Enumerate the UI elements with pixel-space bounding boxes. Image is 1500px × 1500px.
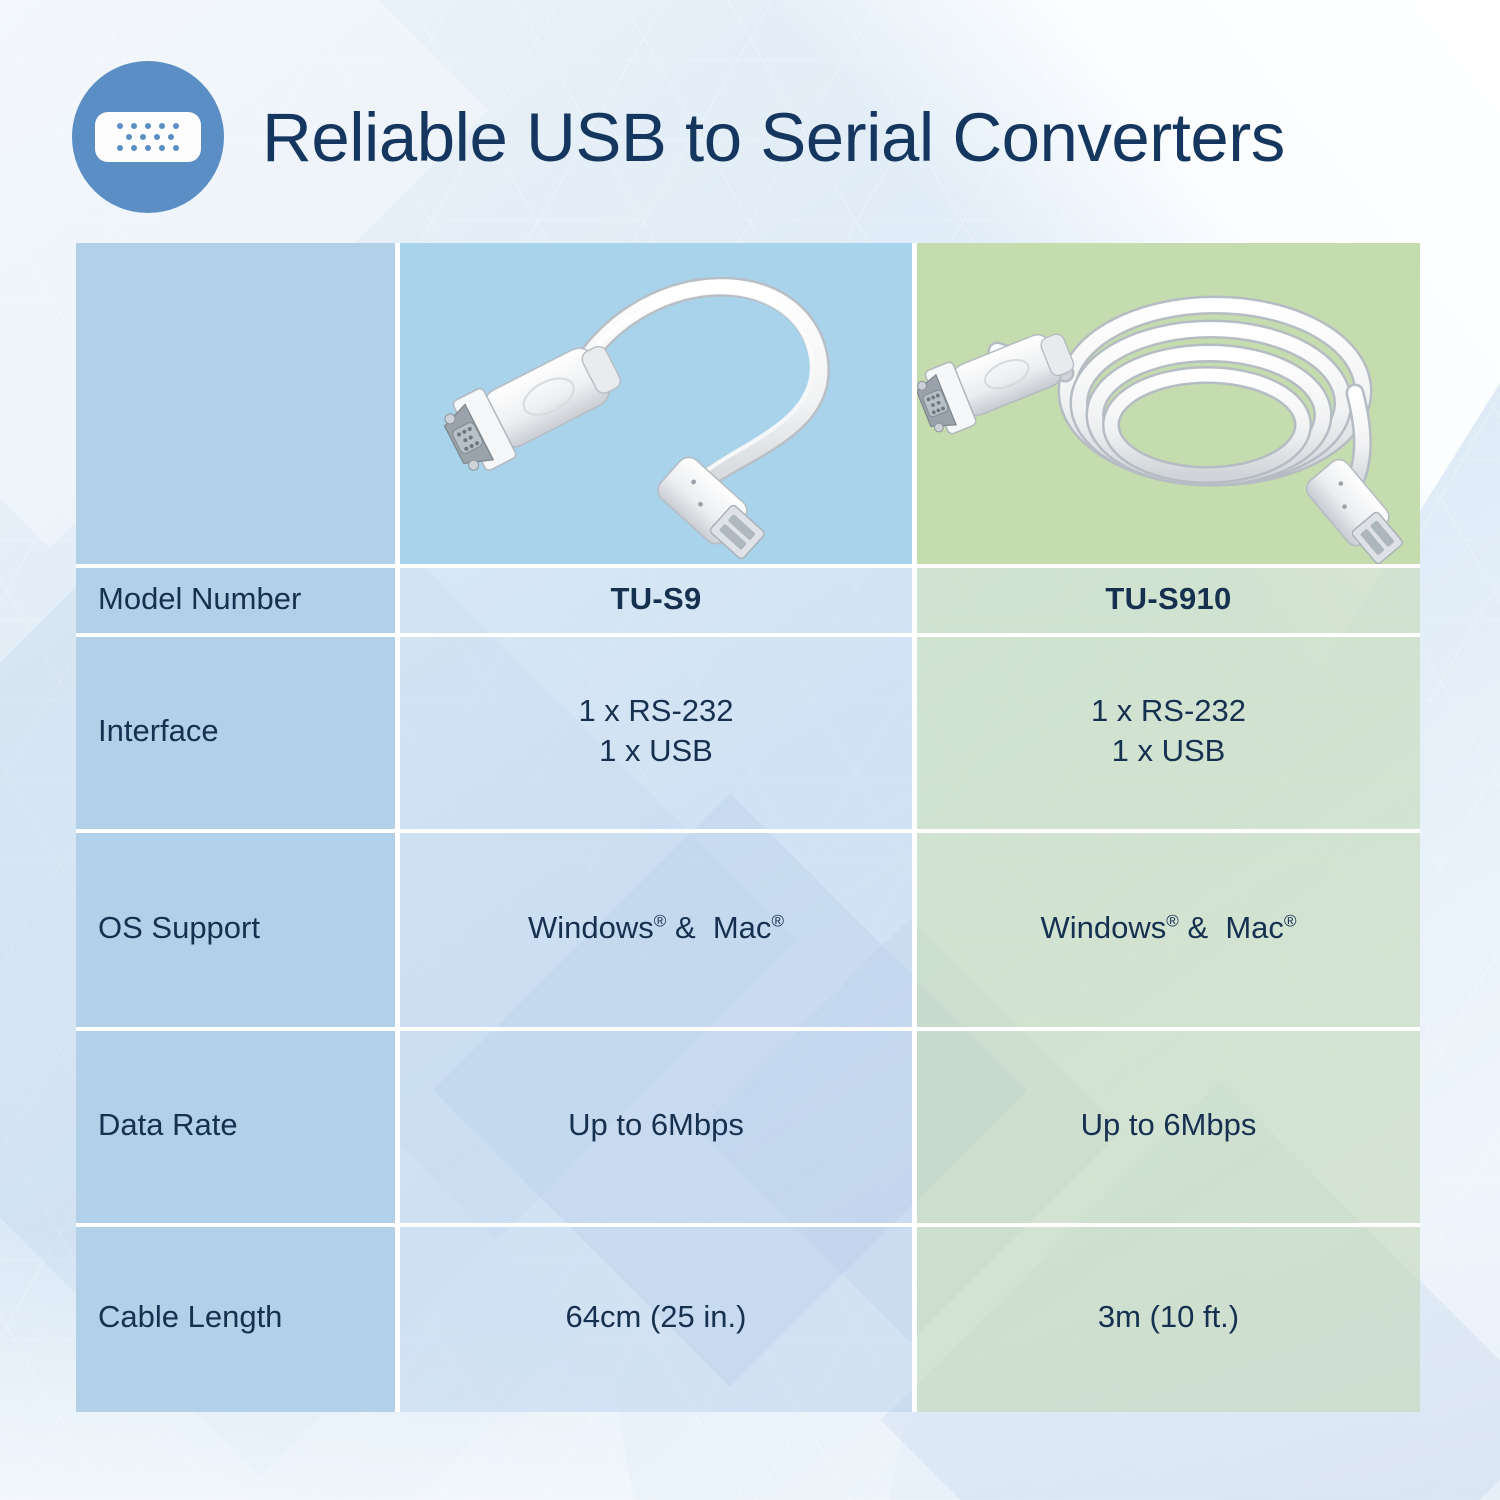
registered-mark: ®	[654, 912, 667, 931]
db9-pin-row	[117, 145, 179, 151]
cell-os-support-tus9: Windows® & Mac®	[400, 829, 912, 1027]
row-label-cable-length: Cable Length	[76, 1223, 395, 1412]
cell-interface-tus9: 1 x RS-2321 x USB	[400, 633, 912, 829]
row-label-os-support: OS Support	[76, 829, 395, 1027]
ampersand: &	[1187, 910, 1208, 945]
cell-data-rate-tus910: Up to 6Mbps	[917, 1027, 1420, 1223]
db9-pin-row	[117, 123, 179, 129]
interface-line-2: 1 x USB	[1112, 733, 1226, 768]
product-image-tus9	[398, 243, 915, 566]
cell-cable-length-tus9: 64cm (25 in.)	[400, 1223, 912, 1412]
registered-mark: ®	[1166, 912, 1179, 931]
registered-mark: ®	[1284, 912, 1297, 931]
cell-os-support-tus910: Windows® & Mac®	[917, 829, 1420, 1027]
cell-cable-length-tus910: 3m (10 ft.)	[917, 1223, 1420, 1412]
ampersand: &	[675, 910, 696, 945]
cell-interface-tus910: 1 x RS-2321 x USB	[917, 633, 1420, 829]
usb-serial-adapter-short-illustration	[398, 243, 915, 566]
row-label-model-number: Model Number	[76, 566, 395, 633]
cell-model-number-tus9: TU-S9	[400, 566, 912, 633]
product-image-tus910	[915, 243, 1420, 566]
cell-model-number-tus910: TU-S910	[917, 566, 1420, 633]
row-label-interface: Interface	[76, 633, 395, 829]
registered-mark: ®	[771, 912, 784, 931]
interface-line-2: 1 x USB	[599, 733, 713, 768]
cell-data-rate-tus9: Up to 6Mbps	[400, 1027, 912, 1223]
interface-line-1: 1 x RS-232	[1091, 693, 1246, 728]
os-name-mac: Mac	[1225, 910, 1284, 945]
row-label-data-rate: Data Rate	[76, 1027, 395, 1223]
infographic-canvas: Reliable USB to Serial Converters	[0, 0, 1500, 1500]
page-title: Reliable USB to Serial Converters	[262, 98, 1285, 177]
db9-serial-connector-icon	[72, 61, 224, 213]
image-row-label-cell	[76, 243, 398, 566]
usb-serial-adapter-long-illustration	[915, 243, 1420, 566]
db9-pin-row	[122, 134, 174, 140]
db9-connector-shell	[95, 112, 201, 162]
os-name-windows: Windows	[528, 910, 654, 945]
os-name-windows: Windows	[1041, 910, 1167, 945]
interface-line-1: 1 x RS-232	[578, 693, 733, 728]
os-name-mac: Mac	[713, 910, 772, 945]
header: Reliable USB to Serial Converters	[72, 52, 1452, 222]
comparison-table: Model Number TU-S9 TU-S910 Interface 1 x…	[76, 243, 1420, 1412]
